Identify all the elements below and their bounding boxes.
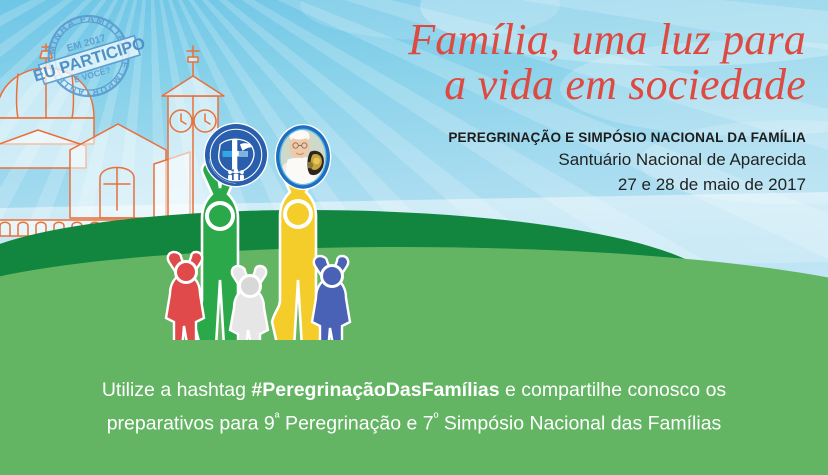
pastoral-familiar-logo-badge <box>203 122 269 188</box>
hashtag-banner: Utilize a hashtag #PeregrinaçãoDasFamíli… <box>0 340 828 475</box>
headline-line-2: a vida em sociedade <box>266 63 806 108</box>
subtitle-event: PEREGRINAÇÃO E SIMPÓSIO NACIONAL DA FAMÍ… <box>266 128 806 148</box>
banner-line2-c: Simpósio Nacional das Famílias <box>438 412 721 434</box>
banner-line2-b: Peregrinação e 7 <box>280 412 434 434</box>
subtitle-date: 27 e 28 de maio de 2017 <box>266 173 806 197</box>
banner-hashtag: #PeregrinaçãoDasFamílias <box>251 379 499 401</box>
banner-line2-a: preparativos para 9 <box>107 412 275 434</box>
poster-canvas: MINHA FAMÍLIA É IMPORTANTE! EM 2017 EU P… <box>0 0 828 475</box>
poster-subtitle-block: PEREGRINAÇÃO E SIMPÓSIO NACIONAL DA FAMÍ… <box>266 128 806 197</box>
hashtag-banner-text: Utilize a hashtag #PeregrinaçãoDasFamíli… <box>19 375 809 440</box>
banner-line-2: preparativos para 9ª Peregrinação e 7º S… <box>19 407 809 440</box>
subtitle-place: Santuário Nacional de Aparecida <box>266 148 806 172</box>
headline-line-1: Família, uma luz para <box>408 15 806 64</box>
banner-line-1: Utilize a hashtag #PeregrinaçãoDasFamíli… <box>19 375 809 407</box>
participation-stamp: MINHA FAMÍLIA É IMPORTANTE! EM 2017 EU P… <box>33 8 145 108</box>
poster-headline: Família, uma luz para a vida em sociedad… <box>266 18 806 108</box>
banner-line1-post: e compartilhe conosco os <box>500 379 727 401</box>
banner-line1-pre: Utilize a hashtag <box>102 379 252 401</box>
